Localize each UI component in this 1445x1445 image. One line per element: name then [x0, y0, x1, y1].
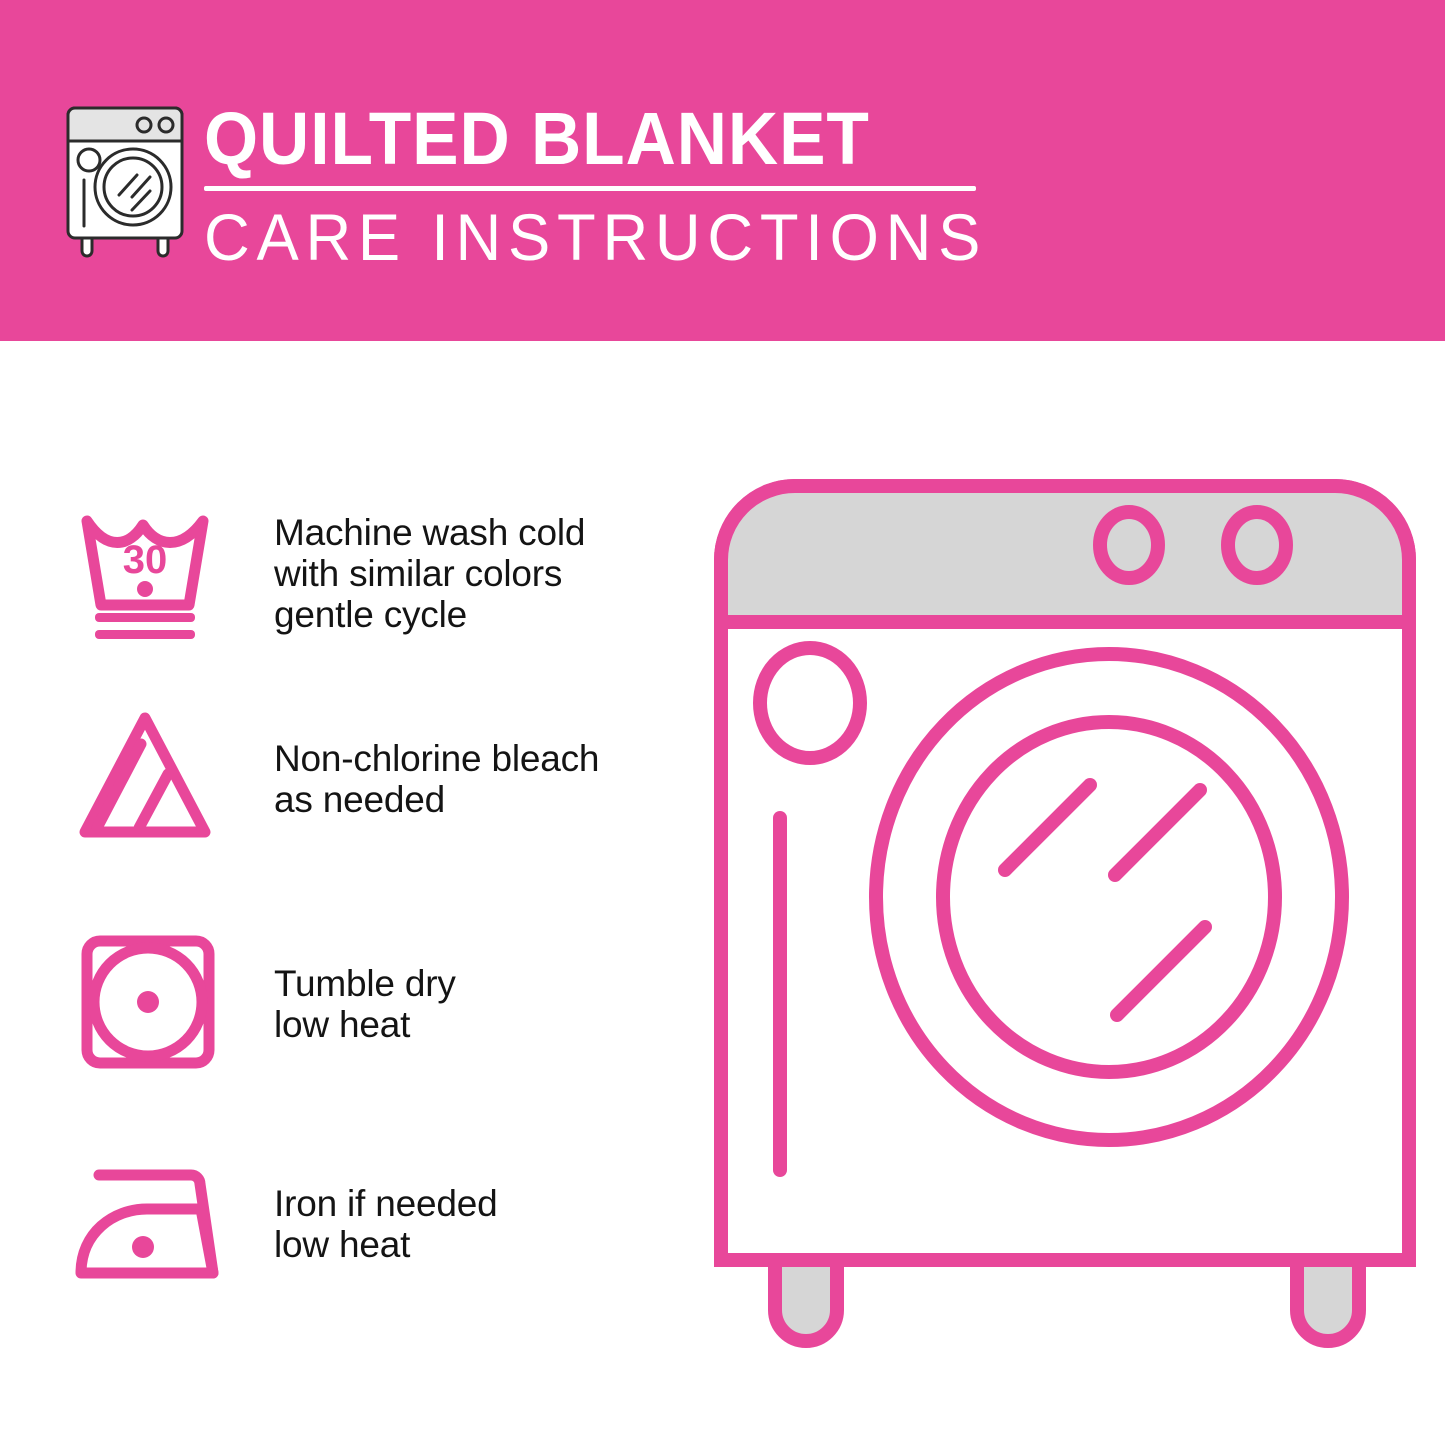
care-label: Tumble dry low heat: [274, 963, 700, 1045]
tumble-dry-icon: [58, 919, 248, 1089]
care-label-line: Iron if needed: [274, 1183, 700, 1224]
care-label-line: low heat: [274, 1004, 700, 1045]
leg-right: [1297, 1260, 1359, 1341]
care-label: Machine wash cold with similar colors ge…: [274, 512, 700, 635]
care-label-line: with similar colors: [274, 553, 700, 594]
care-row: Iron if needed low heat: [0, 1131, 700, 1316]
leg-left: [775, 1260, 837, 1341]
care-instructions-infographic: QUILTED BLANKET CARE INSTRUCTIONS 30: [0, 0, 1445, 1445]
front-load-washing-machine-illustration: [705, 470, 1425, 1360]
care-label-line: Machine wash cold: [274, 512, 700, 553]
knob-right: [1228, 512, 1286, 578]
header-text-block: QUILTED BLANKET CARE INSTRUCTIONS: [204, 100, 994, 273]
care-symbol-list: 30 Machine wash cold with similar colors…: [0, 341, 700, 1445]
care-label: Iron if needed low heat: [274, 1183, 700, 1265]
care-label-line: Non-chlorine bleach: [274, 738, 700, 779]
care-row: Non-chlorine bleach as needed: [0, 686, 700, 871]
door-inner-ring: [943, 722, 1275, 1072]
detergent-port: [760, 648, 860, 758]
header-banner: QUILTED BLANKET CARE INSTRUCTIONS: [0, 0, 1445, 341]
washing-machine-logo-icon: [60, 98, 190, 258]
care-label-line: gentle cycle: [274, 594, 700, 635]
knob-left: [1100, 512, 1158, 578]
care-label-line: Tumble dry: [274, 963, 700, 1004]
control-panel: [721, 486, 1409, 622]
page-subtitle: CARE INSTRUCTIONS: [204, 201, 962, 273]
care-row: Tumble dry low heat: [0, 911, 700, 1096]
wash-temperature-value: 30: [123, 538, 168, 582]
bleach-triangle-icon: [58, 694, 248, 864]
title-divider: [204, 186, 976, 191]
page-title: QUILTED BLANKET: [204, 100, 947, 178]
wash-tub-30-icon: 30: [58, 489, 248, 659]
care-label-line: low heat: [274, 1224, 700, 1265]
care-label-line: as needed: [274, 779, 700, 820]
care-row: 30 Machine wash cold with similar colors…: [0, 481, 700, 666]
iron-icon: [58, 1139, 248, 1309]
care-label: Non-chlorine bleach as needed: [274, 738, 700, 820]
